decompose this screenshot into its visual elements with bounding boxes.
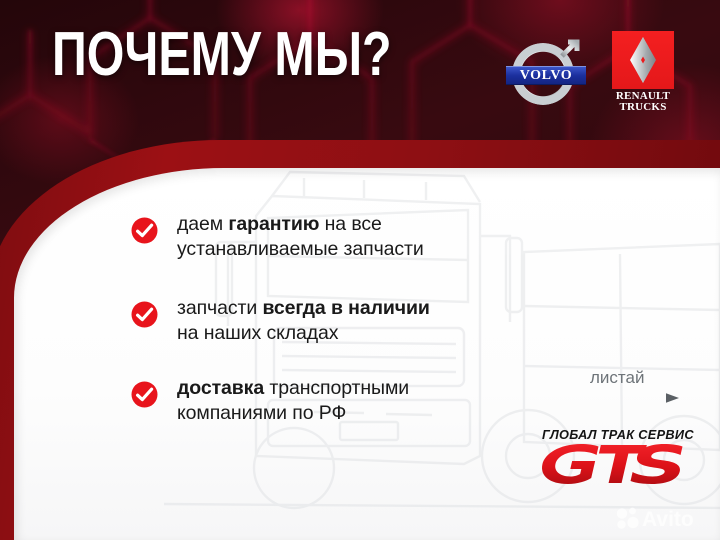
volvo-wordmark: VOLVO — [520, 69, 573, 83]
page-title: ПОЧЕМУ МЫ? — [52, 24, 392, 86]
check-circle-icon — [131, 217, 158, 244]
list-item: даем гарантию на все устанавливаемые зап… — [131, 212, 424, 262]
check-circle-icon — [131, 381, 158, 408]
volvo-logo: VOLVO — [506, 33, 586, 117]
arrow-right-icon — [528, 392, 680, 404]
avito-wordmark: Avito — [642, 508, 694, 531]
bullet-1-line1-pre: даем — [177, 213, 228, 235]
bullet-1-line1-post: на все — [319, 213, 382, 235]
bullet-1-line1-bold: гарантию — [228, 213, 319, 235]
bullet-1-line2: устанавливаемые запчасти — [177, 238, 424, 260]
bullet-2-line1-pre: запчасти — [177, 297, 262, 319]
renault-trucks-logo: RENAULT TRUCKS — [612, 31, 674, 117]
volvo-arrow-icon — [559, 37, 581, 59]
list-item: запчасти всегда в наличии на наших склад… — [131, 296, 430, 346]
renault-wordmark: RENAULT TRUCKS — [612, 91, 674, 113]
bullet-3-line2: компаниями по РФ — [177, 402, 346, 424]
promo-slide: ПОЧЕМУ МЫ? VOLVO — [0, 0, 720, 540]
bullet-3-line1-post: транспортными — [264, 377, 409, 399]
bullet-2-line2: на наших складах — [177, 322, 338, 344]
swipe-hint[interactable]: листай — [528, 368, 713, 408]
avito-watermark-icon: Avito — [614, 505, 710, 531]
renault-line2: TRUCKS — [612, 102, 674, 113]
renault-diamond-icon — [626, 37, 660, 83]
bullet-2-line1-bold: всегда в наличии — [262, 297, 429, 319]
bullet-3-line1-bold: доставка — [177, 377, 264, 399]
volvo-wordmark-band: VOLVO — [506, 66, 586, 85]
gts-wordmark-icon — [536, 440, 706, 488]
check-circle-icon — [131, 301, 158, 328]
list-item: доставка транспортными компаниями по РФ — [131, 376, 409, 426]
swipe-hint-label: листай — [590, 368, 644, 388]
list-item-text: даем гарантию на все устанавливаемые зап… — [177, 212, 424, 262]
gts-logo: ГЛОБАЛ ТРАК СЕРВИС — [536, 428, 706, 490]
list-item-text: доставка транспортными компаниями по РФ — [177, 376, 409, 426]
list-item-text: запчасти всегда в наличии на наших склад… — [177, 296, 430, 346]
